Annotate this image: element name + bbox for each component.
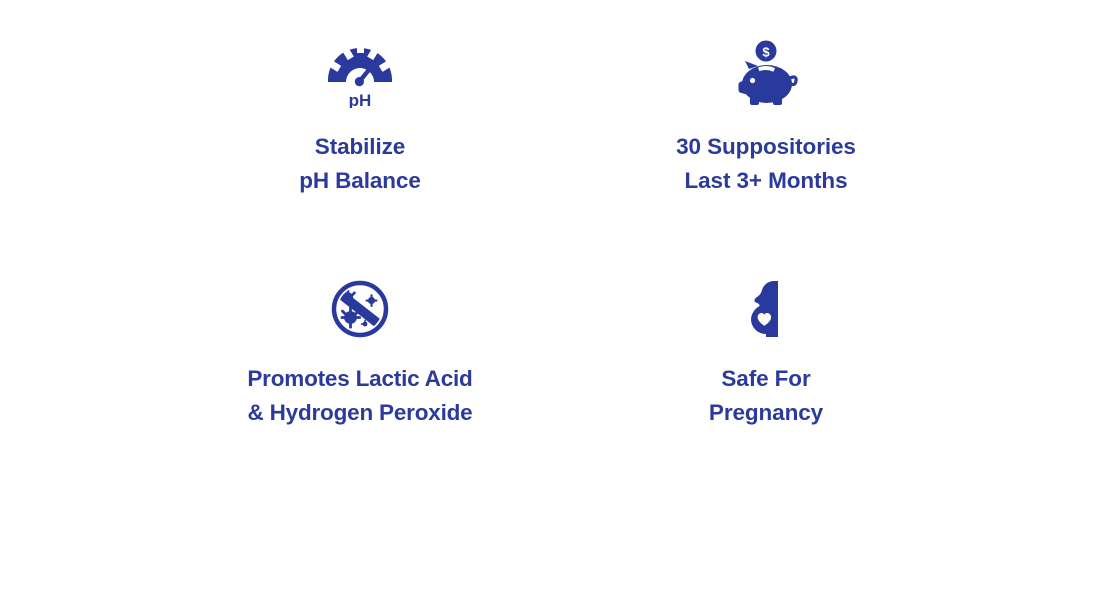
pregnant-woman-heart-icon-wrap	[738, 278, 794, 338]
benefit-label-lactic-acid: Promotes Lactic Acid & Hydrogen Peroxide	[247, 362, 472, 430]
benefit-item-lactic-acid: Promotes Lactic Acid & Hydrogen Peroxide	[160, 278, 560, 508]
ph-gauge-icon-wrap: pH	[324, 40, 396, 108]
no-bacteria-icon	[330, 280, 390, 338]
piggy-bank-icon: $	[731, 40, 801, 108]
no-bacteria-icon-wrap	[330, 278, 390, 338]
benefit-label-pregnancy-safe: Safe For Pregnancy	[709, 362, 823, 430]
benefit-item-pregnancy-safe: Safe For Pregnancy	[566, 278, 966, 508]
piggy-bank-icon-wrap: $	[731, 40, 801, 108]
ph-gauge-icon: pH	[324, 40, 396, 108]
svg-text:$: $	[762, 45, 770, 60]
ph-gauge-caption: pH	[349, 91, 372, 108]
benefit-label-ph-balance: Stabilize pH Balance	[299, 130, 421, 198]
benefit-label-suppository-count: 30 Suppositories Last 3+ Months	[676, 130, 856, 198]
benefit-item-suppository-count: $ 30 Suppositories Last 3+ Months	[566, 40, 966, 270]
pregnant-woman-heart-icon	[738, 280, 794, 338]
benefits-grid: pH Stabilize pH Balance $	[0, 0, 1100, 600]
benefit-item-ph-balance: pH Stabilize pH Balance	[160, 40, 560, 270]
